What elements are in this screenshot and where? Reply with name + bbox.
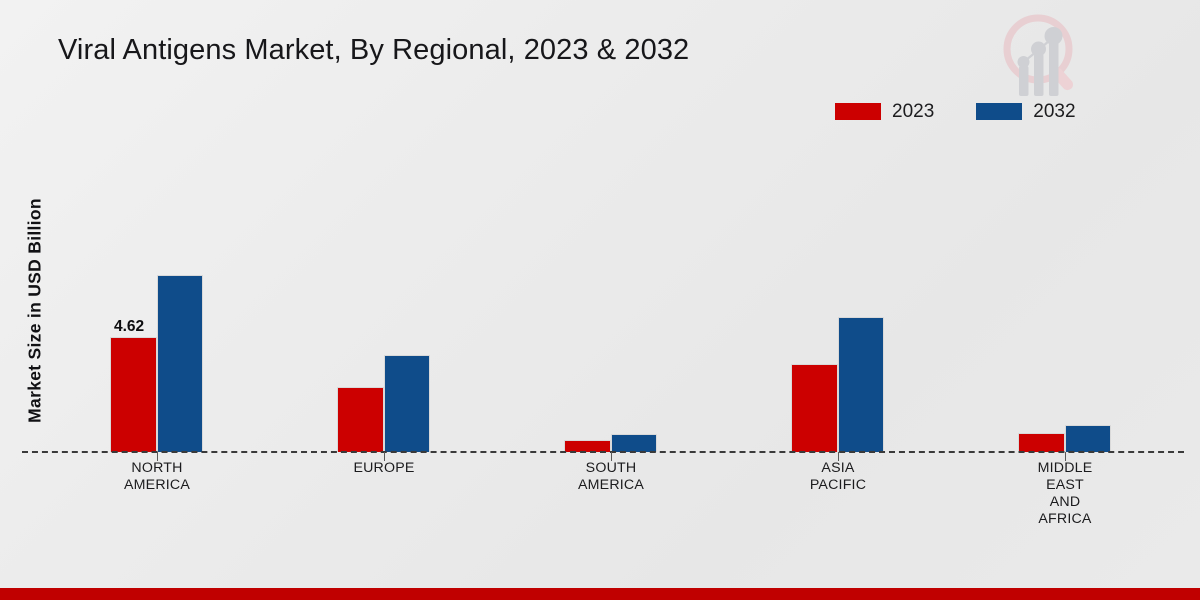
- plot-area: 4.62 NORTH AMERICA EUROPE SOUTH AMERICA …: [0, 0, 1200, 600]
- x-axis-label-europe: EUROPE: [314, 460, 454, 477]
- x-axis-label-south-america: SOUTH AMERICA: [541, 460, 681, 494]
- bar-2032-north-america[interactable]: [157, 275, 203, 452]
- axis-baseline: [22, 451, 1184, 453]
- x-axis-label-middle-east-and-africa: MIDDLE EAST AND AFRICA: [995, 460, 1135, 528]
- bar-2023-north-america[interactable]: [110, 337, 157, 452]
- bar-2032-south-america[interactable]: [611, 434, 657, 452]
- x-axis-label-asia-pacific: ASIA PACIFIC: [768, 460, 908, 494]
- bar-2023-europe[interactable]: [337, 387, 384, 452]
- x-axis-label-north-america: NORTH AMERICA: [87, 460, 227, 494]
- bar-2032-asia-pacific[interactable]: [838, 317, 884, 452]
- bar-2023-middle-east-and-africa[interactable]: [1018, 433, 1065, 452]
- bar-2023-asia-pacific[interactable]: [791, 364, 838, 452]
- data-label-2023-north-america: 4.62: [114, 318, 144, 336]
- bar-2032-middle-east-and-africa[interactable]: [1065, 425, 1111, 452]
- bar-2032-europe[interactable]: [384, 355, 430, 452]
- chart-canvas: Viral Antigens Market, By Regional, 2023…: [0, 0, 1200, 600]
- footer-accent-bar: [0, 588, 1200, 600]
